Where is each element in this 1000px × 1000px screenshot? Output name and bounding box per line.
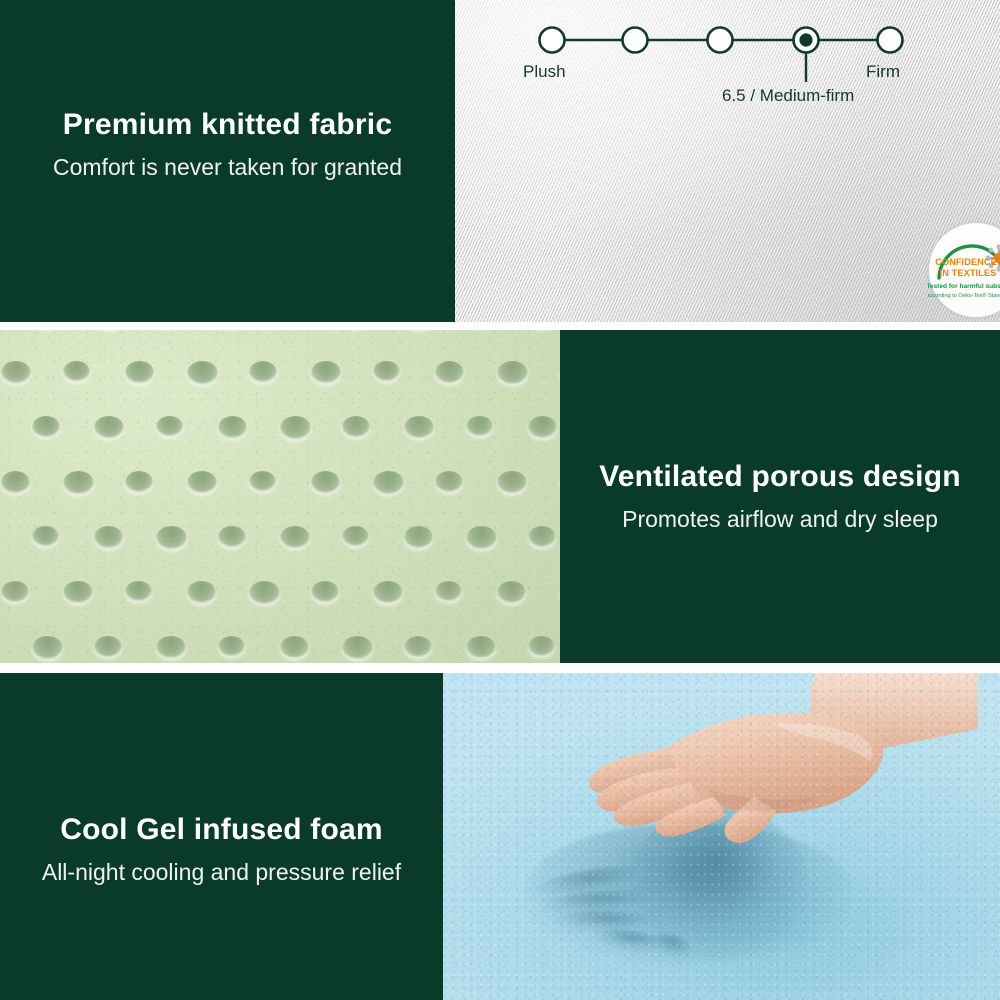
foam-hole (249, 471, 276, 492)
foam-hole (435, 581, 462, 602)
foam-hole (218, 416, 247, 439)
foam-hole (63, 361, 90, 382)
panel-3-headline: Cool Gel infused foam (60, 813, 383, 846)
foam-hole (32, 526, 59, 547)
firmness-label-plush: Plush (523, 62, 566, 82)
foam-hole (311, 581, 339, 603)
foam-hole (125, 471, 153, 493)
foam-hole (187, 361, 218, 385)
panel-2-headline: Ventilated porous design (599, 460, 961, 493)
oeko-line-3: Tested for harmful substances (928, 283, 1000, 290)
foam-hole (311, 471, 340, 494)
foam-hole (466, 416, 493, 437)
foam-hole (1, 581, 29, 603)
foam-hole (94, 526, 123, 549)
gel-foam-photo (443, 673, 1000, 1000)
foam-hole (156, 416, 183, 437)
foam-hole (528, 636, 555, 657)
firmness-dot-1 (540, 28, 565, 53)
ventilated-foam-photo: The PU Foam SHE-Standard by Europur AISB… (0, 330, 560, 663)
panel-cool-gel-infused-foam: Cool Gel infused foam All-night cooling … (0, 673, 1000, 1000)
knitted-fabric-photo: Plush Firm 6.5 / Medium-firm (455, 0, 1000, 322)
foam-hole (435, 361, 464, 384)
firmness-dot-2 (623, 28, 648, 53)
foam-hole (497, 581, 526, 604)
foam-hole (373, 361, 400, 382)
panel-2-subline: Promotes airflow and dry sleep (622, 506, 938, 532)
gel-grain-texture (443, 673, 1000, 1000)
foam-hole (342, 416, 370, 438)
foam-hole (187, 581, 216, 604)
panel-ventilated-porous-design: The PU Foam SHE-Standard by Europur AISB… (0, 330, 1000, 663)
foam-hole (156, 526, 187, 550)
foam-hole (466, 526, 497, 550)
firmness-scale[interactable]: Plush Firm 6.5 / Medium-firm (455, 0, 1000, 120)
foam-hole (249, 581, 280, 605)
foam-hole (435, 471, 463, 493)
foam-hole (63, 471, 94, 495)
panel-1-subline: Comfort is never taken for granted (53, 154, 402, 180)
firmness-dot-5 (878, 28, 903, 53)
panel-3-subline: All-night cooling and pressure relief (42, 859, 401, 885)
firmness-value-label: 6.5 / Medium-firm (722, 86, 854, 106)
foam-hole (280, 416, 311, 440)
panel-1-headline: Premium knitted fabric (63, 108, 392, 141)
oeko-line-1: CONFIDENCE (935, 257, 997, 267)
foam-hole (404, 636, 432, 658)
foam-hole (218, 526, 246, 548)
oeko-tex-graphic: CONFIDENCE IN TEXTILES Tested for harmfu… (928, 222, 1000, 318)
foam-hole (528, 416, 557, 439)
oeko-line-2: IN TEXTILES (940, 268, 997, 278)
foam-hole (1, 471, 30, 494)
foam-hole (280, 636, 309, 659)
foam-hole (125, 581, 152, 602)
panel-1-text-pane: Premium knitted fabric Comfort is never … (0, 0, 455, 322)
foam-hole (404, 526, 433, 549)
oeko-tex-standard-100-badge: CONFIDENCE IN TEXTILES Tested for harmfu… (928, 222, 1000, 318)
foam-hole (528, 526, 556, 548)
foam-hole (373, 471, 404, 495)
panel-3-text-pane: Cool Gel infused foam All-night cooling … (0, 673, 443, 1000)
panel-premium-knitted-fabric: Premium knitted fabric Comfort is never … (0, 0, 1000, 322)
firmness-dot-3 (708, 28, 733, 53)
foam-hole (94, 636, 122, 658)
oeko-line-4: according to Oeko-Tex® Standard 100 (928, 292, 1000, 299)
foam-hole (32, 416, 60, 438)
foam-hole (249, 361, 277, 383)
product-feature-infographic: Premium knitted fabric Comfort is never … (0, 0, 1000, 1000)
foam-hole (32, 636, 63, 660)
foam-hole (218, 636, 245, 657)
panel-2-text-pane: Ventilated porous design Promotes airflo… (560, 330, 1000, 663)
foam-hole (342, 526, 369, 547)
firmness-dot-4-fill (799, 33, 812, 46)
foam-hole (125, 361, 154, 384)
foam-hole (497, 361, 528, 385)
firmness-label-firm: Firm (866, 62, 900, 82)
foam-hole (342, 636, 373, 660)
